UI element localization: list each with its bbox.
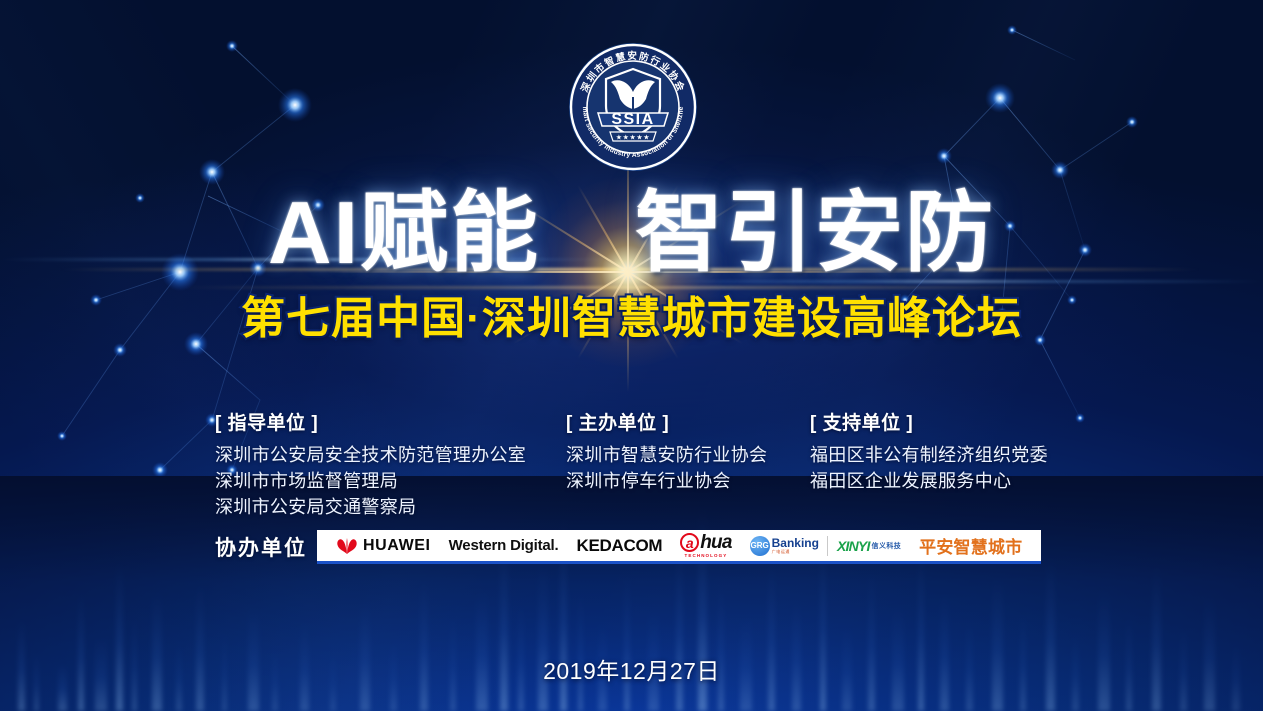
org-heading: [ 主办单位 ] xyxy=(566,408,767,435)
xinyi-wordmark: XINYI xyxy=(837,538,870,554)
org-column-guidance: [ 指导单位 ] 深圳市公安局安全技术防范管理办公室 深圳市市场监督管理局 深圳… xyxy=(215,408,526,520)
sponsor-label: 协办单位 xyxy=(215,532,307,562)
grgbanking-subtext: 广电运通 xyxy=(772,550,819,554)
ssia-emblem: 深圳市智慧安防行业协会 Smart Security Industry Asso… xyxy=(568,42,698,172)
dahua-tagline: TECHNOLOGY xyxy=(685,554,728,559)
sponsor-section: 协办单位 HUAWEI Western Digital . KEDACOM xyxy=(215,530,1041,564)
page-subtitle: 第七届中国·深圳智慧城市建设高峰论坛 xyxy=(0,294,1263,344)
xinyi-logo[interactable]: XINYI 信义科技 xyxy=(828,529,910,563)
org-line: 深圳市公安局交通警察局 xyxy=(215,494,526,520)
pingan-smartcity-logo[interactable]: 平安智慧城市 xyxy=(910,529,1031,563)
org-line: 深圳市公安局安全技术防范管理办公室 xyxy=(215,442,526,468)
dahua-a-badge-icon: a xyxy=(680,533,699,552)
dahua-wordmark: hua xyxy=(700,533,731,552)
org-line: 深圳市市场监督管理局 xyxy=(215,468,526,494)
huawei-petal-icon xyxy=(336,537,358,555)
org-line: 深圳市停车行业协会 xyxy=(566,468,767,494)
dahua-logo[interactable]: a hua TECHNOLOGY xyxy=(671,529,740,563)
pingan-wordmark: 平安智慧城市 xyxy=(919,533,1022,558)
page-title: AI赋能 智引安防 xyxy=(0,186,1263,280)
event-date: 2019年12月27日 xyxy=(0,652,1263,686)
org-column-support: [ 支持单位 ] 福田区非公有制经济组织党委 福田区企业发展服务中心 xyxy=(810,408,1048,494)
org-line: 福田区非公有制经济组织党委 xyxy=(810,442,1048,468)
grg-globe-icon: GRG xyxy=(750,536,770,556)
org-line: 福田区企业发展服务中心 xyxy=(810,468,1048,494)
grgbanking-wordmark: Banking xyxy=(772,537,819,549)
western-digital-wordmark: Western Digital xyxy=(449,537,555,554)
kedacom-wordmark: KEDACOM xyxy=(577,536,663,556)
org-heading: [ 支持单位 ] xyxy=(810,408,1048,435)
kedacom-logo[interactable]: KEDACOM xyxy=(568,529,672,563)
registered-dot-icon: . xyxy=(555,537,559,554)
poster-canvas: 深圳市智慧安防行业协会 Smart Security Industry Asso… xyxy=(0,0,1263,711)
org-column-host: [ 主办单位 ] 深圳市智慧安防行业协会 深圳市停车行业协会 xyxy=(566,408,767,494)
svg-text:★★★★★: ★★★★★ xyxy=(616,134,650,142)
huawei-logo[interactable]: HUAWEI xyxy=(327,529,440,563)
xinyi-subtext: 信义科技 xyxy=(872,541,902,551)
huawei-wordmark: HUAWEI xyxy=(363,537,431,555)
western-digital-logo[interactable]: Western Digital . xyxy=(440,529,568,563)
svg-text:SSIA: SSIA xyxy=(611,111,654,128)
org-heading: [ 指导单位 ] xyxy=(215,408,526,435)
grgbanking-logo[interactable]: GRG Banking 广电运通 xyxy=(741,529,828,563)
light-streak-gold-2 xyxy=(180,286,1080,289)
title-part-2: 智引安防 xyxy=(635,183,995,282)
sponsor-logo-strip: HUAWEI Western Digital . KEDACOM a hua T… xyxy=(317,530,1041,564)
org-line: 深圳市智慧安防行业协会 xyxy=(566,442,767,468)
title-part-1: AI赋能 xyxy=(268,183,540,282)
